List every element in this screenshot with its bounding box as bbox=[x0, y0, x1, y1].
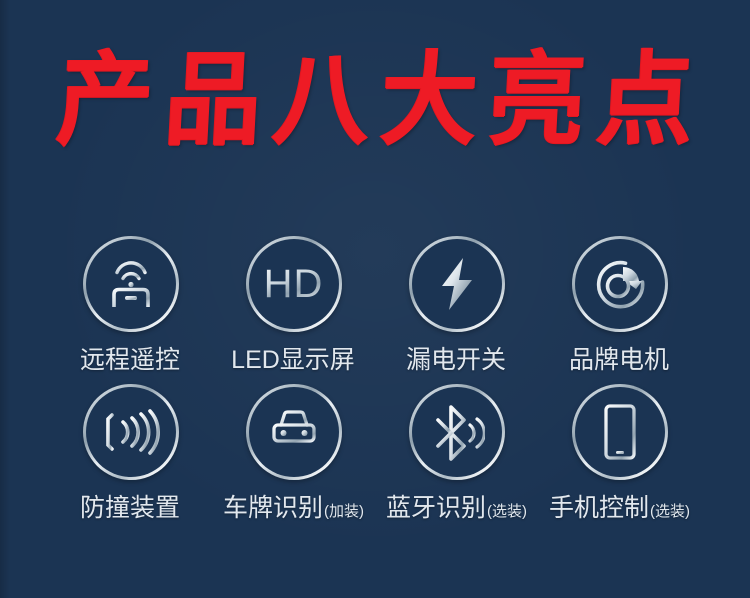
icon-ring bbox=[83, 236, 179, 332]
feature-label: 车牌识别(加装) bbox=[223, 496, 364, 521]
feature-label-text: 防撞装置 bbox=[80, 496, 180, 521]
feature-label-text: 手机控制 bbox=[549, 496, 649, 521]
car-front-icon bbox=[264, 402, 324, 462]
icon-ring: HD bbox=[246, 236, 342, 332]
feature-label-text: 品牌电机 bbox=[569, 348, 669, 373]
feature-brand-motor[interactable]: 品牌电机 bbox=[538, 236, 701, 373]
feature-label: 防撞装置 bbox=[80, 496, 181, 521]
feature-row-2: 防撞装置 bbox=[0, 384, 750, 521]
feature-label-suffix: (加装) bbox=[324, 504, 364, 519]
feature-label-text: 远程遥控 bbox=[80, 348, 180, 373]
icon-ring bbox=[409, 384, 505, 480]
feature-label-text: 漏电开关 bbox=[406, 348, 506, 373]
icon-ring bbox=[246, 384, 342, 480]
motor-icon bbox=[590, 254, 650, 314]
bluetooth-icon bbox=[427, 402, 487, 462]
feature-label: 品牌电机 bbox=[569, 348, 670, 373]
icon-ring bbox=[572, 236, 668, 332]
icon-ring bbox=[572, 384, 668, 480]
feature-led-display[interactable]: HD LED显示屏 bbox=[212, 236, 375, 373]
feature-label-suffix: (选装) bbox=[650, 504, 690, 519]
lightning-bolt-icon bbox=[427, 254, 487, 314]
feature-label: 手机控制(选装) bbox=[549, 496, 690, 521]
icon-ring bbox=[83, 384, 179, 480]
feature-label-suffix: (选装) bbox=[487, 504, 527, 519]
feature-label: 蓝牙识别(选装) bbox=[386, 496, 527, 521]
page-title-text: 产品八大亮点 bbox=[42, 49, 707, 151]
feature-label: 漏电开关 bbox=[406, 348, 507, 373]
feature-mobile-control[interactable]: 手机控制(选装) bbox=[538, 384, 701, 521]
smartphone-icon bbox=[590, 402, 650, 462]
page-title: 产品八大亮点 bbox=[0, 52, 750, 148]
icon-ring bbox=[409, 236, 505, 332]
feature-row-1: 远程遥控 HD LED显示屏 bbox=[0, 236, 750, 373]
feature-license-plate-recognition[interactable]: 车牌识别(加装) bbox=[212, 384, 375, 521]
anti-collision-sensor-icon bbox=[101, 402, 161, 462]
feature-label: 远程遥控 bbox=[80, 348, 181, 373]
feature-remote-control[interactable]: 远程遥控 bbox=[49, 236, 212, 373]
feature-anti-collision[interactable]: 防撞装置 bbox=[49, 384, 212, 521]
feature-grid: 远程遥控 HD LED显示屏 bbox=[0, 236, 750, 521]
feature-leakage-switch[interactable]: 漏电开关 bbox=[375, 236, 538, 373]
feature-label-text: 车牌识别 bbox=[223, 496, 323, 521]
feature-bluetooth-recognition[interactable]: 蓝牙识别(选装) bbox=[375, 384, 538, 521]
feature-label-text: 蓝牙识别 bbox=[386, 496, 486, 521]
feature-label: LED显示屏 bbox=[231, 348, 356, 373]
product-highlights-banner: 产品八大亮点 bbox=[0, 0, 750, 598]
feature-label-text: LED显示屏 bbox=[231, 348, 355, 373]
hd-text-icon: HD bbox=[264, 264, 324, 304]
remote-control-icon bbox=[101, 254, 161, 314]
